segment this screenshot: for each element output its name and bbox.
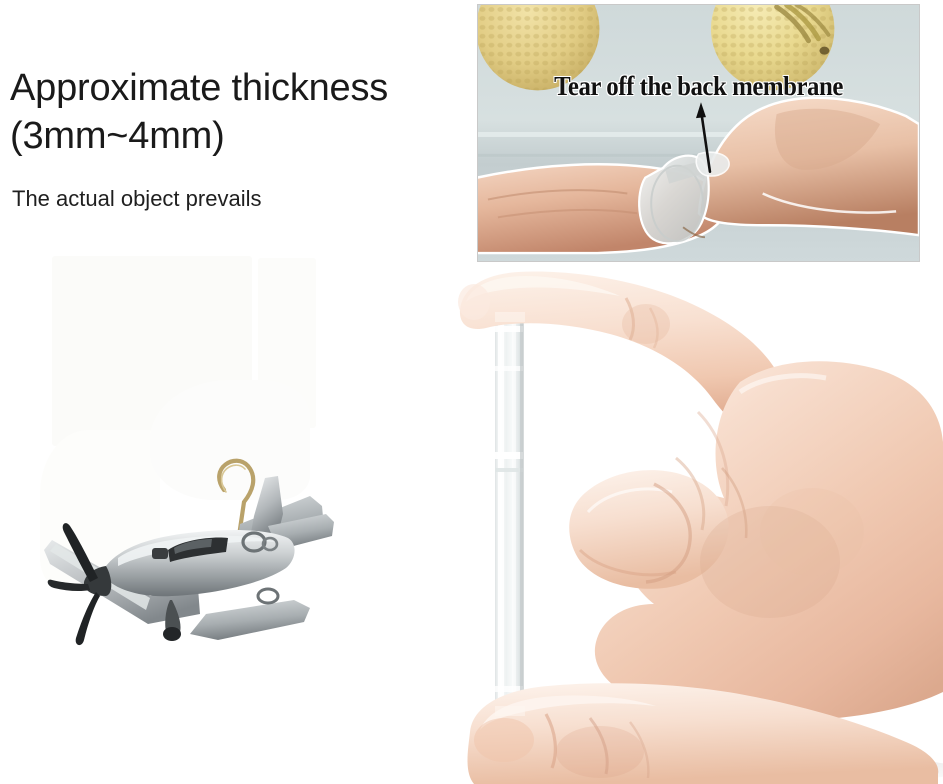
- product-detail-image: Approximate thickness (3mm~4mm) The actu…: [0, 0, 943, 784]
- disclaimer-text: The actual object prevails: [12, 184, 480, 214]
- hand-holding-strip-photo: [440, 262, 943, 784]
- thickness-headline: Approximate thickness (3mm~4mm): [10, 64, 480, 160]
- tear-membrane-inset-photo: Tear off the back membrane: [477, 4, 920, 262]
- background-panel-b: [258, 258, 316, 428]
- airplane-model-photo: [22, 418, 352, 668]
- caption-block: Approximate thickness (3mm~4mm) The actu…: [10, 64, 480, 214]
- acrylic-strip: [495, 318, 524, 710]
